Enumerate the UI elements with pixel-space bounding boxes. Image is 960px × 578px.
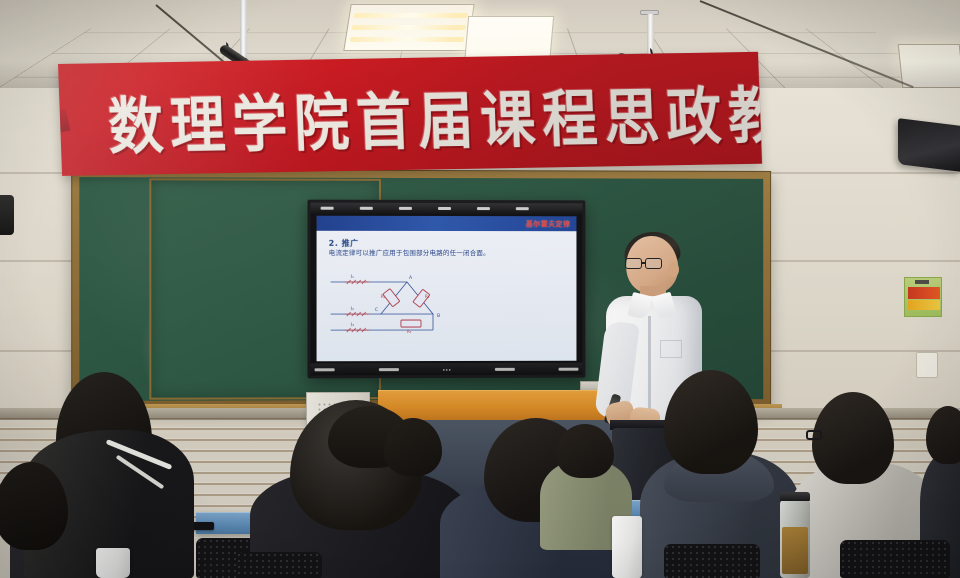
screen-brand-logo: ●●● [443,366,452,371]
svg-text:A: A [409,275,413,281]
slide-heading: 2. 推广 [329,238,359,249]
audience-member-head [556,424,614,478]
presentation-slide: 基尔霍夫定律 2. 推广 电流定律可以推广应用于包围部分电路的任一闭合面。 [317,216,577,362]
slide-circuit-diagram: I₁ I₂ I₃ A B C R₁ R₂ R₃ [323,268,523,350]
slide-titlebar-text: 基尔霍夫定律 [526,219,571,229]
svg-text:R₃: R₃ [407,329,412,334]
water-bottle[interactable] [612,516,642,578]
chair-back[interactable] [840,540,950,578]
wall-speaker [898,118,960,172]
chair-back[interactable] [236,552,322,578]
slide-title-bar: 基尔霍夫定律 [317,216,577,231]
event-banner: 数理学院首届课程思政教学大赛 [58,52,762,176]
ceiling-light-panel-1 [343,4,474,51]
light-switch[interactable] [916,352,938,378]
svg-text:B: B [437,313,440,319]
audience-member-head [384,418,442,476]
wall-poster [904,277,942,317]
tea-bottle[interactable] [780,500,810,578]
paper-cup[interactable] [96,548,130,578]
svg-text:I₁: I₁ [351,274,354,280]
event-banner-text: 数理学院首届课程思政教学大赛 [106,61,762,166]
chair-back[interactable] [664,544,760,578]
wall-sensor-left [0,195,14,235]
banner-fold-left [58,109,70,133]
svg-text:R₂: R₂ [425,294,430,299]
svg-text:C: C [375,307,378,313]
interactive-whiteboard[interactable]: 基尔霍夫定律 2. 推广 电流定律可以推广应用于包围部分电路的任一闭合面。 [307,200,585,379]
screen-bottom-bezel: ●●● [311,363,583,376]
svg-text:R₁: R₁ [381,294,386,299]
presenter-glasses [625,258,665,270]
presenter-shirt-placket [648,316,651,420]
svg-text:I₃: I₃ [351,322,354,328]
classroom-scene-photo: 基尔霍夫定律 2. 推广 电流定律可以推广应用于包围部分电路的任一闭合面。 [0,0,960,578]
screen-top-bezel [311,203,583,215]
presenter-ear [668,262,679,277]
presenter-shirt-pocket [660,340,682,358]
audience-glasses [806,430,822,440]
slide-body-text: 电流定律可以推广应用于包围部分电路的任一闭合面。 [329,249,567,257]
svg-text:I₂: I₂ [351,306,354,312]
